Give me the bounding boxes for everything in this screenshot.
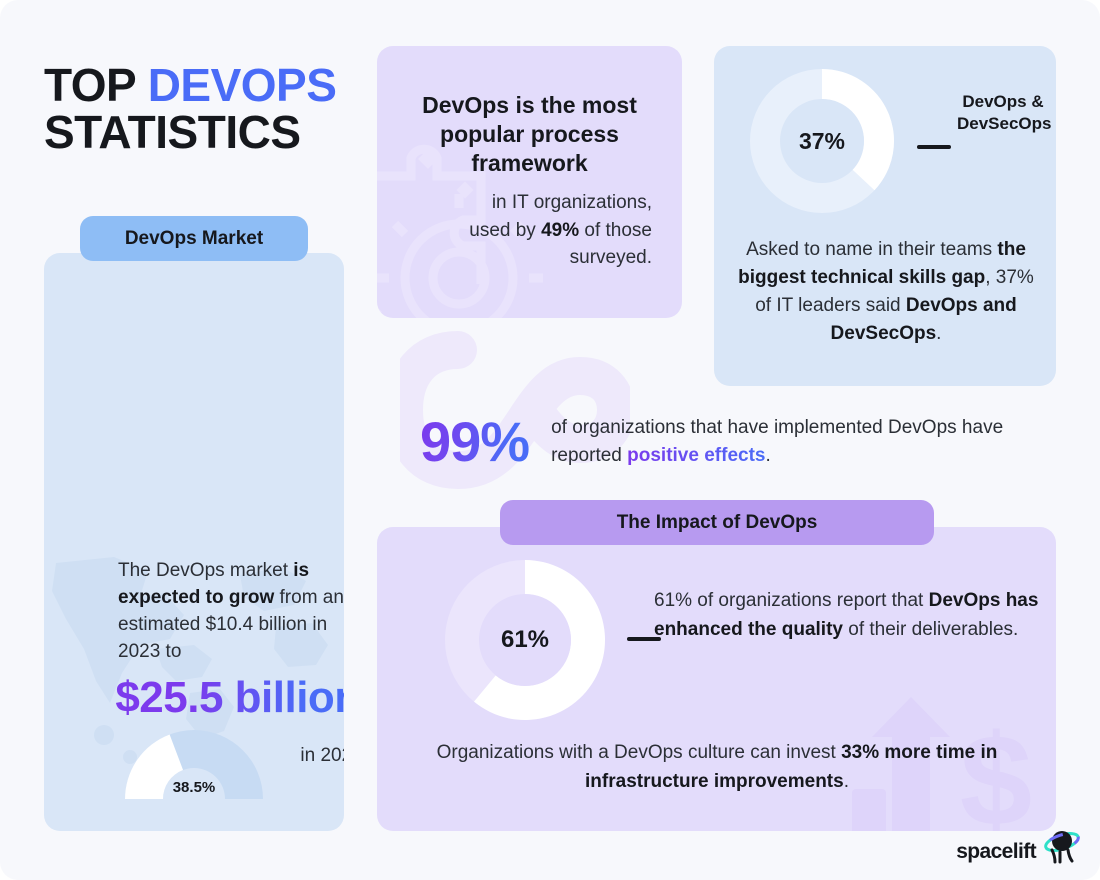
body-text: 61% of organizations report that — [654, 590, 929, 611]
positive-effects-text: positive effects — [627, 445, 765, 466]
body-text: . — [844, 771, 849, 792]
body-text: of those surveyed. — [570, 220, 652, 269]
body-text: Organizations with a DevOps culture can … — [437, 742, 841, 763]
skills-gap-card: 37% DevOps & DevSecOps Asked to name in … — [714, 46, 1056, 386]
ninetynine-percent-number: 99% — [420, 414, 529, 470]
market-growth-paragraph: The DevOps market is expected to grow fr… — [118, 558, 344, 666]
emphasis-text: 49% — [541, 220, 579, 241]
impact-infrastructure-text: Organizations with a DevOps culture can … — [407, 739, 1027, 796]
devops-market-card: The DevOps market is expected to grow fr… — [44, 253, 344, 831]
body-text: of organizations that have implemented D… — [551, 417, 1003, 466]
north-america-gauge-chart: 38.5% — [121, 722, 267, 812]
body-text: Asked to name in their teams — [746, 239, 997, 260]
ninetynine-percent-text: of organizations that have implemented D… — [551, 414, 1060, 470]
title-line2: STATISTICS — [44, 106, 301, 158]
skills-gap-legend-line — [917, 145, 951, 149]
devops-market-pill: DevOps Market — [80, 216, 308, 261]
body-text: . — [765, 445, 770, 466]
body-text: . — [936, 323, 941, 344]
planet-astronaut-icon — [1038, 830, 1082, 864]
logo-text: spacelift — [956, 840, 1036, 864]
framework-card: DevOps is the most popular process frame… — [377, 46, 682, 318]
impact-card: $ 61% 61% of organizations report that D… — [377, 527, 1056, 831]
ninetynine-percent-band: 99% of organizations that have implement… — [420, 402, 1060, 482]
impact-of-devops-pill: The Impact of DevOps — [500, 500, 934, 545]
infographic-page: TOP DEVOPS STATISTICS The DevOps market … — [0, 0, 1100, 880]
body-text: of their deliverables. — [843, 619, 1018, 640]
page-title: TOP DEVOPS STATISTICS — [44, 62, 374, 156]
market-value-2028: $25.5 billion — [88, 673, 344, 723]
body-text: The DevOps market — [118, 560, 293, 581]
gauge-value-label: 38.5% — [173, 779, 216, 796]
framework-heading: DevOps is the most popular process frame… — [407, 91, 652, 177]
impact-donut-value: 61% — [440, 555, 610, 725]
framework-subtext: in IT organizations, used by 49% of thos… — [452, 189, 652, 272]
skills-gap-legend-label: DevOps & DevSecOps — [957, 91, 1049, 135]
spacelift-logo: spacelift — [956, 830, 1082, 864]
impact-quality-text: 61% of organizations report that DevOps … — [654, 587, 1044, 645]
title-line1-plain: TOP — [44, 59, 148, 111]
skills-gap-donut-value: 37% — [744, 63, 900, 219]
title-line1-accent: DEVOPS — [148, 59, 337, 111]
skills-gap-paragraph: Asked to name in their teams the biggest… — [736, 236, 1036, 348]
